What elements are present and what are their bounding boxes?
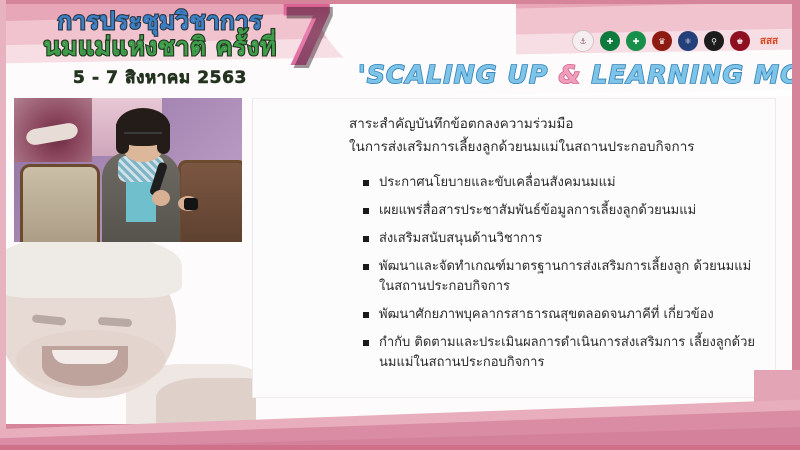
baby-hat: [6, 242, 182, 298]
slogan-ampersand: &: [558, 60, 581, 89]
slide-page: การประชุมวิชาการ นมแม่แห่งชาติ ครั้งที่ …: [6, 4, 792, 424]
list-item: กำกับ ติดตามและประเมินผลการดำเนินการส่งเ…: [363, 333, 763, 373]
backdrop-mouth-graphic: [14, 98, 92, 162]
logo-thaihealth-sss: สสส: [756, 31, 782, 51]
presenter-remote: [184, 198, 198, 210]
edition-number: 7: [278, 4, 336, 78]
slogan-prefix: 'SCALING UP: [358, 60, 558, 89]
conference-title-block: การประชุมวิชาการ นมแม่แห่งชาติ ครั้งที่ …: [20, 6, 300, 91]
list-item: ส่งเสริมสนับสนุนด้านวิชาการ: [363, 229, 763, 249]
list-item: พัฒนาและจัดทำเกณฑ์มาตรฐานการส่งเสริมการเ…: [363, 257, 763, 297]
content-bullet-list: ประกาศนโยบายและขับเคลื่อนสังคมนมแม่ เผยแ…: [363, 173, 763, 381]
slogan-suffix: LEARNING MORE': [581, 60, 792, 89]
presentation-slide: การประชุมวิชาการ นมแม่แห่งชาติ ครั้งที่ …: [0, 0, 800, 450]
speaker-photo: [14, 98, 242, 246]
content-panel: สาระสำคัญบันทึกข้อตกลงความร่วมมือ ในการส…: [252, 98, 776, 398]
chair-left: [20, 164, 100, 246]
logo-royal-seal: ⚓ มูลนิธิศูนย์นมแม่: [572, 30, 594, 52]
logo-garuda-blue: ⚛: [678, 31, 698, 51]
logo-crest-red: ♛: [652, 31, 672, 51]
footer-decoration: [0, 370, 800, 450]
content-heading-line1: สาระสำคัญบันทึกข้อตกลงความร่วมมือ: [349, 113, 769, 136]
logo-ministry-public-health-green: ✚ กรมอนามัย: [600, 31, 620, 51]
footer-edge-line: [0, 445, 800, 450]
logo-health-dept-green: ✚ กรมสนับสนุนบริการสุขภาพ: [626, 31, 646, 51]
logo-crest-maroon: ♚: [730, 31, 750, 51]
list-item: เผยแพร่สื่อสารประชาสัมพันธ์ข้อมูลการเลี้…: [363, 201, 763, 221]
conference-date: 5 - 7 สิงหาคม 2563: [20, 64, 300, 91]
speaker-glasses: [124, 132, 162, 142]
speaker-hand-left: [152, 190, 170, 206]
conference-title-line2: นมแม่แห่งชาติ ครั้งที่: [20, 32, 300, 62]
sponsor-logos-row: ⚓ มูลนิธิศูนย์นมแม่ ✚ กรมอนามัย ✚ กรมสนั…: [572, 30, 782, 52]
conference-slogan: 'SCALING UP & LEARNING MORE': [358, 60, 792, 89]
content-heading-line2: ในการส่งเสริมการเลี้ยงลูกด้วยนมแม่ในสถาน…: [349, 136, 769, 159]
list-item: ประกาศนโยบายและขับเคลื่อนสังคมนมแม่: [363, 173, 763, 193]
list-item: พัฒนาศักยภาพบุคลากรสาธารณสุขตลอดจนภาคีที…: [363, 305, 763, 325]
logo-black-emblem: ⚲: [704, 31, 724, 51]
content-heading: สาระสำคัญบันทึกข้อตกลงความร่วมมือ ในการส…: [349, 113, 769, 159]
baby-teeth: [52, 350, 118, 364]
